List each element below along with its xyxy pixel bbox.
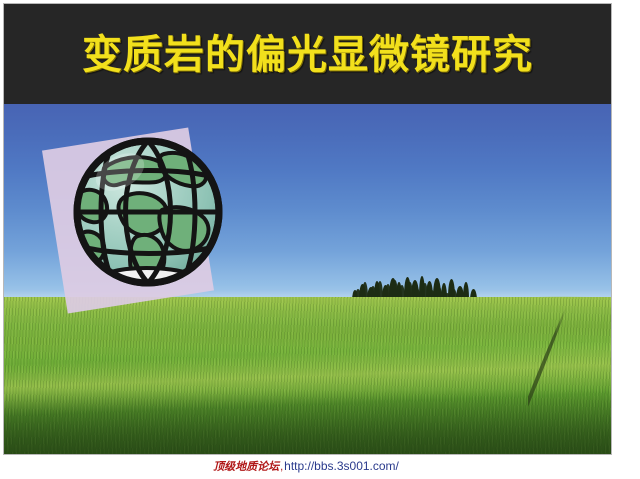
- globe-graphic: [46, 124, 246, 339]
- watermark-url[interactable]: http://bbs.3s001.com/: [284, 459, 399, 473]
- watermark-forum-name: 顶级地质论坛: [213, 460, 279, 473]
- globe-icon: [64, 124, 232, 296]
- watermark: 顶级地质论坛,http://bbs.3s001.com/: [0, 459, 612, 474]
- page-title: 变质岩的偏光显微镜研究: [4, 32, 611, 78]
- field-trail: [528, 302, 568, 452]
- slide-frame: 变质岩的偏光显微镜研究: [3, 3, 612, 455]
- slide-page: 变质岩的偏光显微镜研究: [0, 0, 640, 479]
- background-photo: [4, 104, 611, 455]
- title-banner: 变质岩的偏光显微镜研究: [4, 4, 611, 104]
- foreground-shading: [4, 390, 611, 455]
